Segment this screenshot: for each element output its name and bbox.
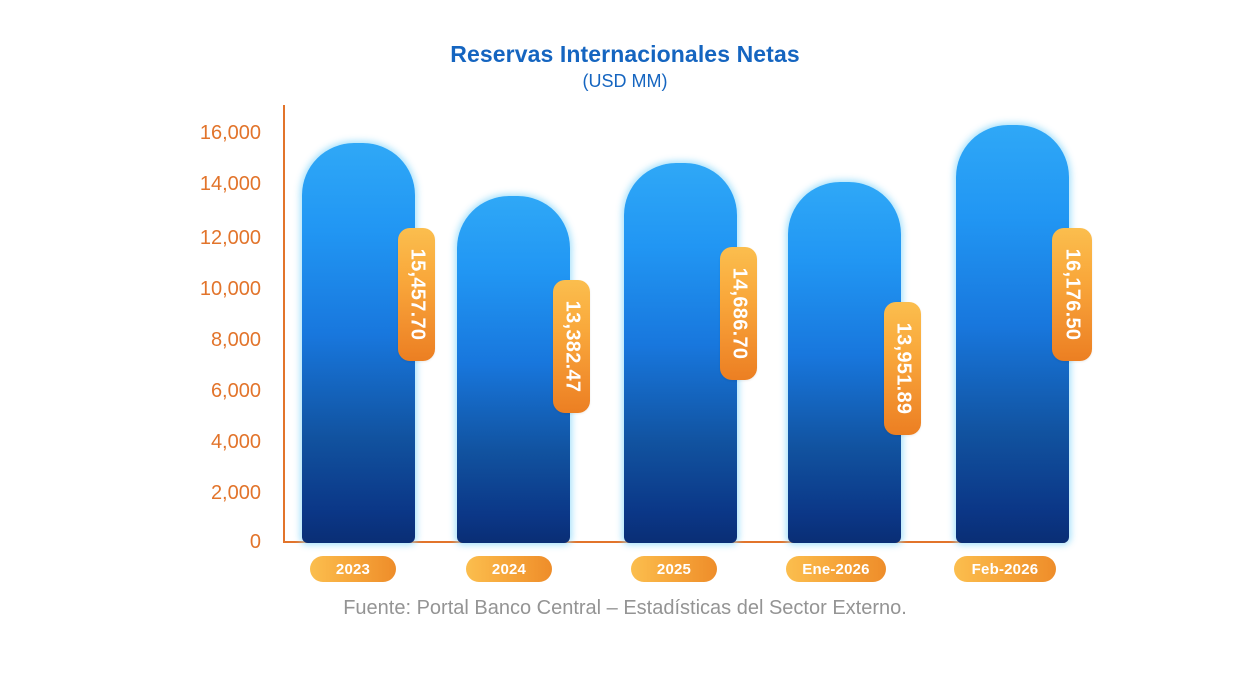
- y-axis-tick-6000: 6,000: [211, 381, 261, 401]
- chart-subtitle: (USD MM): [0, 69, 1250, 93]
- y-axis-tick-8000: 8,000: [211, 330, 261, 350]
- category-pill-feb-2026[interactable]: Feb-2026: [954, 556, 1056, 582]
- page-title: Reservas Internacionales Netas: [0, 40, 1250, 68]
- bar-value-text-ene-2026: 13,951.89: [891, 323, 914, 415]
- category-pill-2023[interactable]: 2023: [310, 556, 396, 582]
- y-axis-tick-4000: 4,000: [211, 432, 261, 452]
- y-axis-tick-0: 0: [250, 532, 261, 552]
- bar-value-label-feb-2026: 16,176.50: [1052, 228, 1092, 361]
- y-axis-tick-12000: 12,000: [200, 228, 261, 248]
- source-note: Fuente: Portal Banco Central – Estadísti…: [0, 597, 1250, 620]
- chart-container: Reservas Internacionales Netas (USD MM) …: [0, 0, 1250, 680]
- bar-value-label-2023: 15,457.70: [398, 228, 435, 361]
- bar-group-2024[interactable]: 13,382.47: [457, 105, 570, 543]
- bar-group-ene-2026[interactable]: 13,951.89: [788, 105, 901, 543]
- y-axis-tick-10000: 10,000: [200, 279, 261, 299]
- bar-group-2025[interactable]: 14,686.70: [624, 105, 737, 543]
- category-pill-2025[interactable]: 2025: [631, 556, 717, 582]
- bar-series: 15,457.70 13,382.47 14,686.70 13,951.89: [283, 105, 1065, 543]
- chart-title-block: Reservas Internacionales Netas (USD MM): [0, 40, 1250, 93]
- category-pill-ene-2026[interactable]: Ene-2026: [786, 556, 886, 582]
- bar-value-label-ene-2026: 13,951.89: [884, 302, 921, 435]
- y-axis-tick-14000: 14,000: [200, 174, 261, 194]
- y-axis-tick-16000: 16,000: [200, 123, 261, 143]
- bar-group-feb-2026[interactable]: 16,176.50: [956, 105, 1069, 543]
- bar-value-text-2023: 15,457.70: [405, 249, 428, 341]
- x-axis-category-labels: 2023 2024 2025 Ene-2026 Feb-2026: [283, 556, 1065, 582]
- category-pill-2024[interactable]: 2024: [466, 556, 552, 582]
- bar-value-label-2025: 14,686.70: [720, 247, 757, 380]
- bar-value-text-2024: 13,382.47: [560, 301, 583, 393]
- bar-value-text-2025: 14,686.70: [727, 268, 750, 360]
- bar-group-2023[interactable]: 15,457.70: [302, 105, 415, 543]
- y-axis-tick-2000: 2,000: [211, 483, 261, 503]
- bar-value-label-2024: 13,382.47: [553, 280, 590, 413]
- bar-value-text-feb-2026: 16,176.50: [1061, 249, 1084, 341]
- y-axis-tick-labels: 16,000 14,000 12,000 10,000 8,000 6,000 …: [183, 105, 273, 543]
